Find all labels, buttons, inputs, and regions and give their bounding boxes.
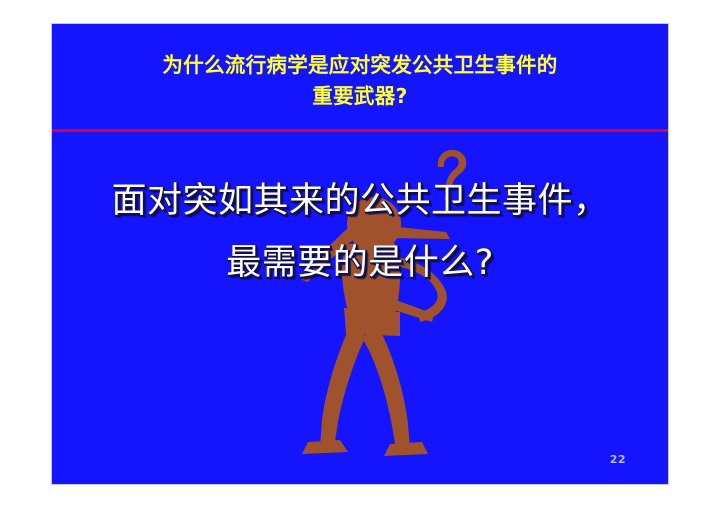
figure-left-foot [302,440,348,454]
slide-body-text: 面对突如其来的公共卫生事件， 最需要的是什么? [52,170,668,294]
presentation-canvas: 为什么流行病学是应对突发公共卫生事件的 重要武器? 面对突如其来的公共卫生事件，… [0,0,720,509]
slide-title: 为什么流行病学是应对突发公共卫生事件的 重要武器? [52,50,668,112]
slide-title-line-2: 重要武器? [52,81,668,112]
figure-hand [394,300,434,322]
slide-number: 22 [610,453,626,466]
slide-body: 为什么流行病学是应对突发公共卫生事件的 重要武器? 面对突如其来的公共卫生事件，… [51,23,669,485]
body-text-line-1: 面对突如其来的公共卫生事件， [52,170,668,232]
title-divider-rule [52,129,668,132]
figure-left-leg [320,326,366,448]
figure-right-foot [384,442,428,456]
figure-hips [344,308,400,336]
figure-right-leg [362,326,410,450]
body-text-line-2: 最需要的是什么? [52,232,668,294]
slide-title-line-1: 为什么流行病学是应对突发公共卫生事件的 [52,50,668,81]
